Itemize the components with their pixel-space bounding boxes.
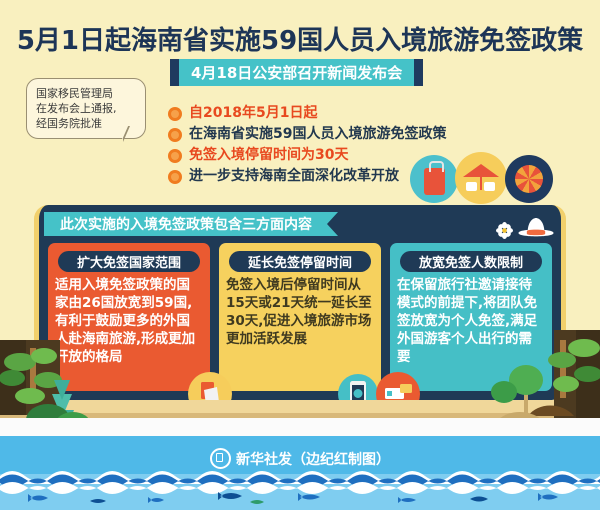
banner-cap-right: [414, 59, 423, 86]
bullet-text: 自2018年5月1日起: [189, 103, 317, 124]
beach-umbrella-pole-icon: [480, 176, 482, 190]
speech-bubble-tail-icon: [122, 124, 129, 140]
speech-bubble-line-1: 国家移民管理局: [36, 86, 137, 101]
policy-card-title: 扩大免签国家范围: [58, 251, 200, 272]
policy-card-title: 延长免签停留时间: [229, 251, 371, 272]
speech-bubble-line-2: 在发布会上通报,: [36, 101, 137, 116]
bullet-item: 自2018年5月1日起: [168, 103, 446, 124]
bullet-dot-icon: [168, 149, 182, 163]
policy-card-title: 放宽免签人数限制: [400, 251, 542, 272]
suitcase-handle-icon: [429, 161, 444, 172]
bullet-list: 自2018年5月1日起 在海南省实施59国人员入境旅游免签政策 免签入境停留时间…: [168, 103, 446, 187]
policy-card-body: 免签入境后停留时间从15天或21天统一延长至30天,促进入境旅游市场更加活跃发展: [226, 276, 374, 348]
beach-chair-right-icon: [484, 182, 495, 191]
flower-icon: [496, 222, 513, 239]
banner-label: 4月18日公安部召开新闻发布会: [179, 59, 414, 86]
beach-sand-strip: [0, 418, 600, 436]
bullet-dot-icon: [168, 170, 182, 184]
bullet-item: 在海南省实施59国人员入境旅游免签政策: [168, 124, 446, 145]
bullet-dot-icon: [168, 128, 182, 142]
panel-ribbon-title: 此次实施的入境免签政策包含三方面内容: [44, 212, 338, 236]
bullet-dot-icon: [168, 107, 182, 121]
sun-hat-icon: [516, 215, 556, 241]
policy-card: 延长免签停留时间 免签入境后停留时间从15天或21天统一延长至30天,促进入境旅…: [219, 243, 381, 391]
bullet-text: 免签入境停留时间为30天: [189, 145, 348, 166]
infographic-root: 5月1日起海南省实施59国人员入境旅游免签政策 4月18日公安部召开新闻发布会 …: [0, 0, 600, 510]
suitcase-icon: [424, 168, 445, 195]
subtitle-banner: 4月18日公安部召开新闻发布会: [170, 59, 423, 86]
bullet-text: 进一步支持海南全面深化改革开放: [189, 166, 399, 187]
bullet-item: 进一步支持海南全面深化改革开放: [168, 166, 446, 187]
fish-group: [0, 488, 600, 510]
page-title: 5月1日起海南省实施59国人员入境旅游免签政策: [0, 20, 600, 57]
bullet-item: 免签入境停留时间为30天: [168, 145, 446, 166]
banner-cap-left: [170, 59, 179, 86]
parasol-icon: [515, 165, 543, 193]
bullet-text: 在海南省实施59国人员入境旅游免签政策: [189, 124, 446, 145]
beach-chair-left-icon: [466, 182, 477, 191]
